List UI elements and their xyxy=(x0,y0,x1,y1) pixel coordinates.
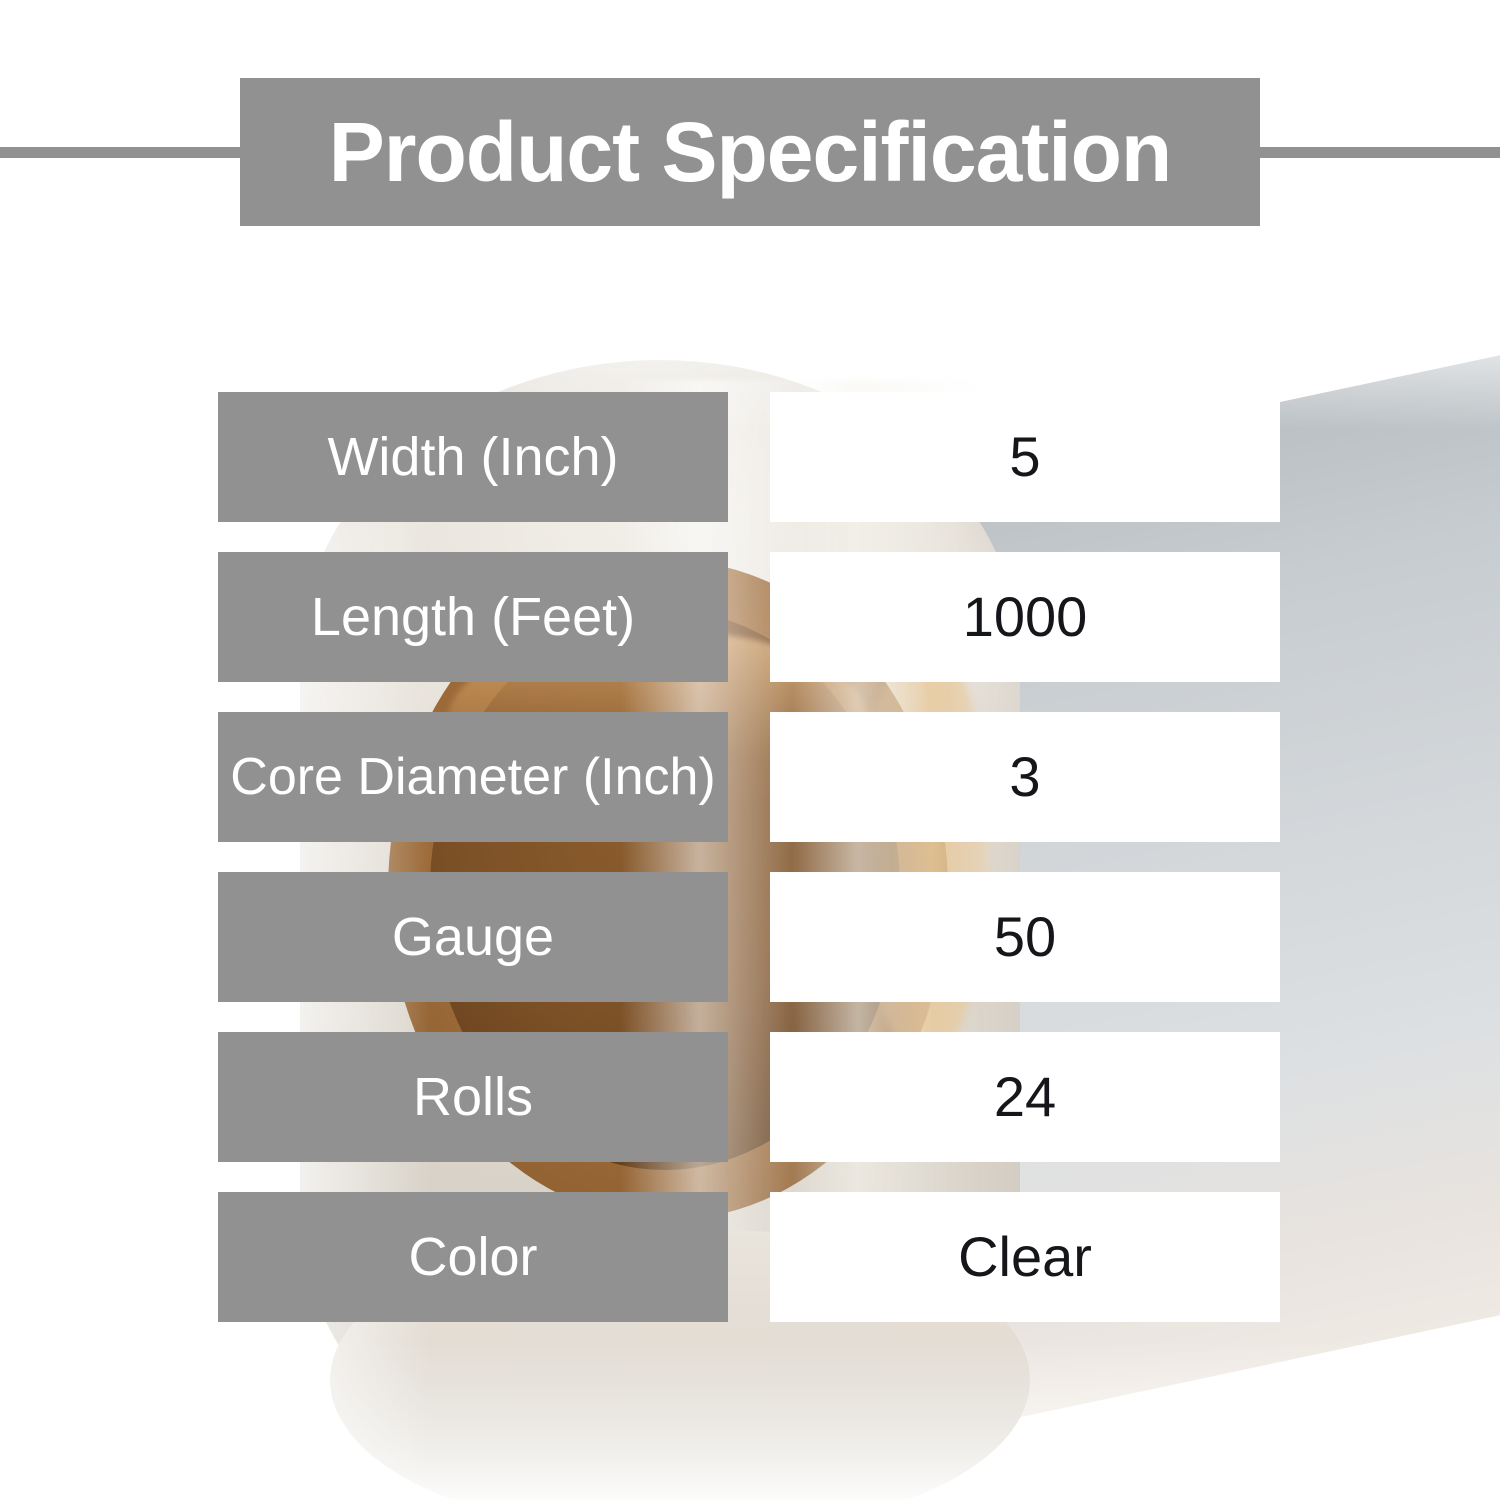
spec-value-core-diameter-inch: 3 xyxy=(770,712,1280,842)
spec-value-rolls: 24 xyxy=(770,1032,1280,1162)
spec-value-color: Clear xyxy=(770,1192,1280,1322)
table-row: Rolls 24 xyxy=(0,1032,1500,1162)
table-row: Length (Feet) 1000 xyxy=(0,552,1500,682)
spec-label-core-diameter-inch: Core Diameter (Inch) xyxy=(218,712,728,842)
spec-value-gauge: 50 xyxy=(770,872,1280,1002)
spec-label-color: Color xyxy=(218,1192,728,1322)
product-specification-page: Product Specification Width (Inch) 5 Len… xyxy=(0,0,1500,1500)
specification-table: Width (Inch) 5 Length (Feet) 1000 Core D… xyxy=(0,0,1500,1500)
spec-label-length-feet: Length (Feet) xyxy=(218,552,728,682)
table-row: Gauge 50 xyxy=(0,872,1500,1002)
spec-label-gauge: Gauge xyxy=(218,872,728,1002)
spec-value-width-inch: 5 xyxy=(770,392,1280,522)
spec-label-width-inch: Width (Inch) xyxy=(218,392,728,522)
table-row: Core Diameter (Inch) 3 xyxy=(0,712,1500,842)
spec-label-rolls: Rolls xyxy=(218,1032,728,1162)
spec-value-length-feet: 1000 xyxy=(770,552,1280,682)
table-row: Color Clear xyxy=(0,1192,1500,1322)
table-row: Width (Inch) 5 xyxy=(0,392,1500,522)
